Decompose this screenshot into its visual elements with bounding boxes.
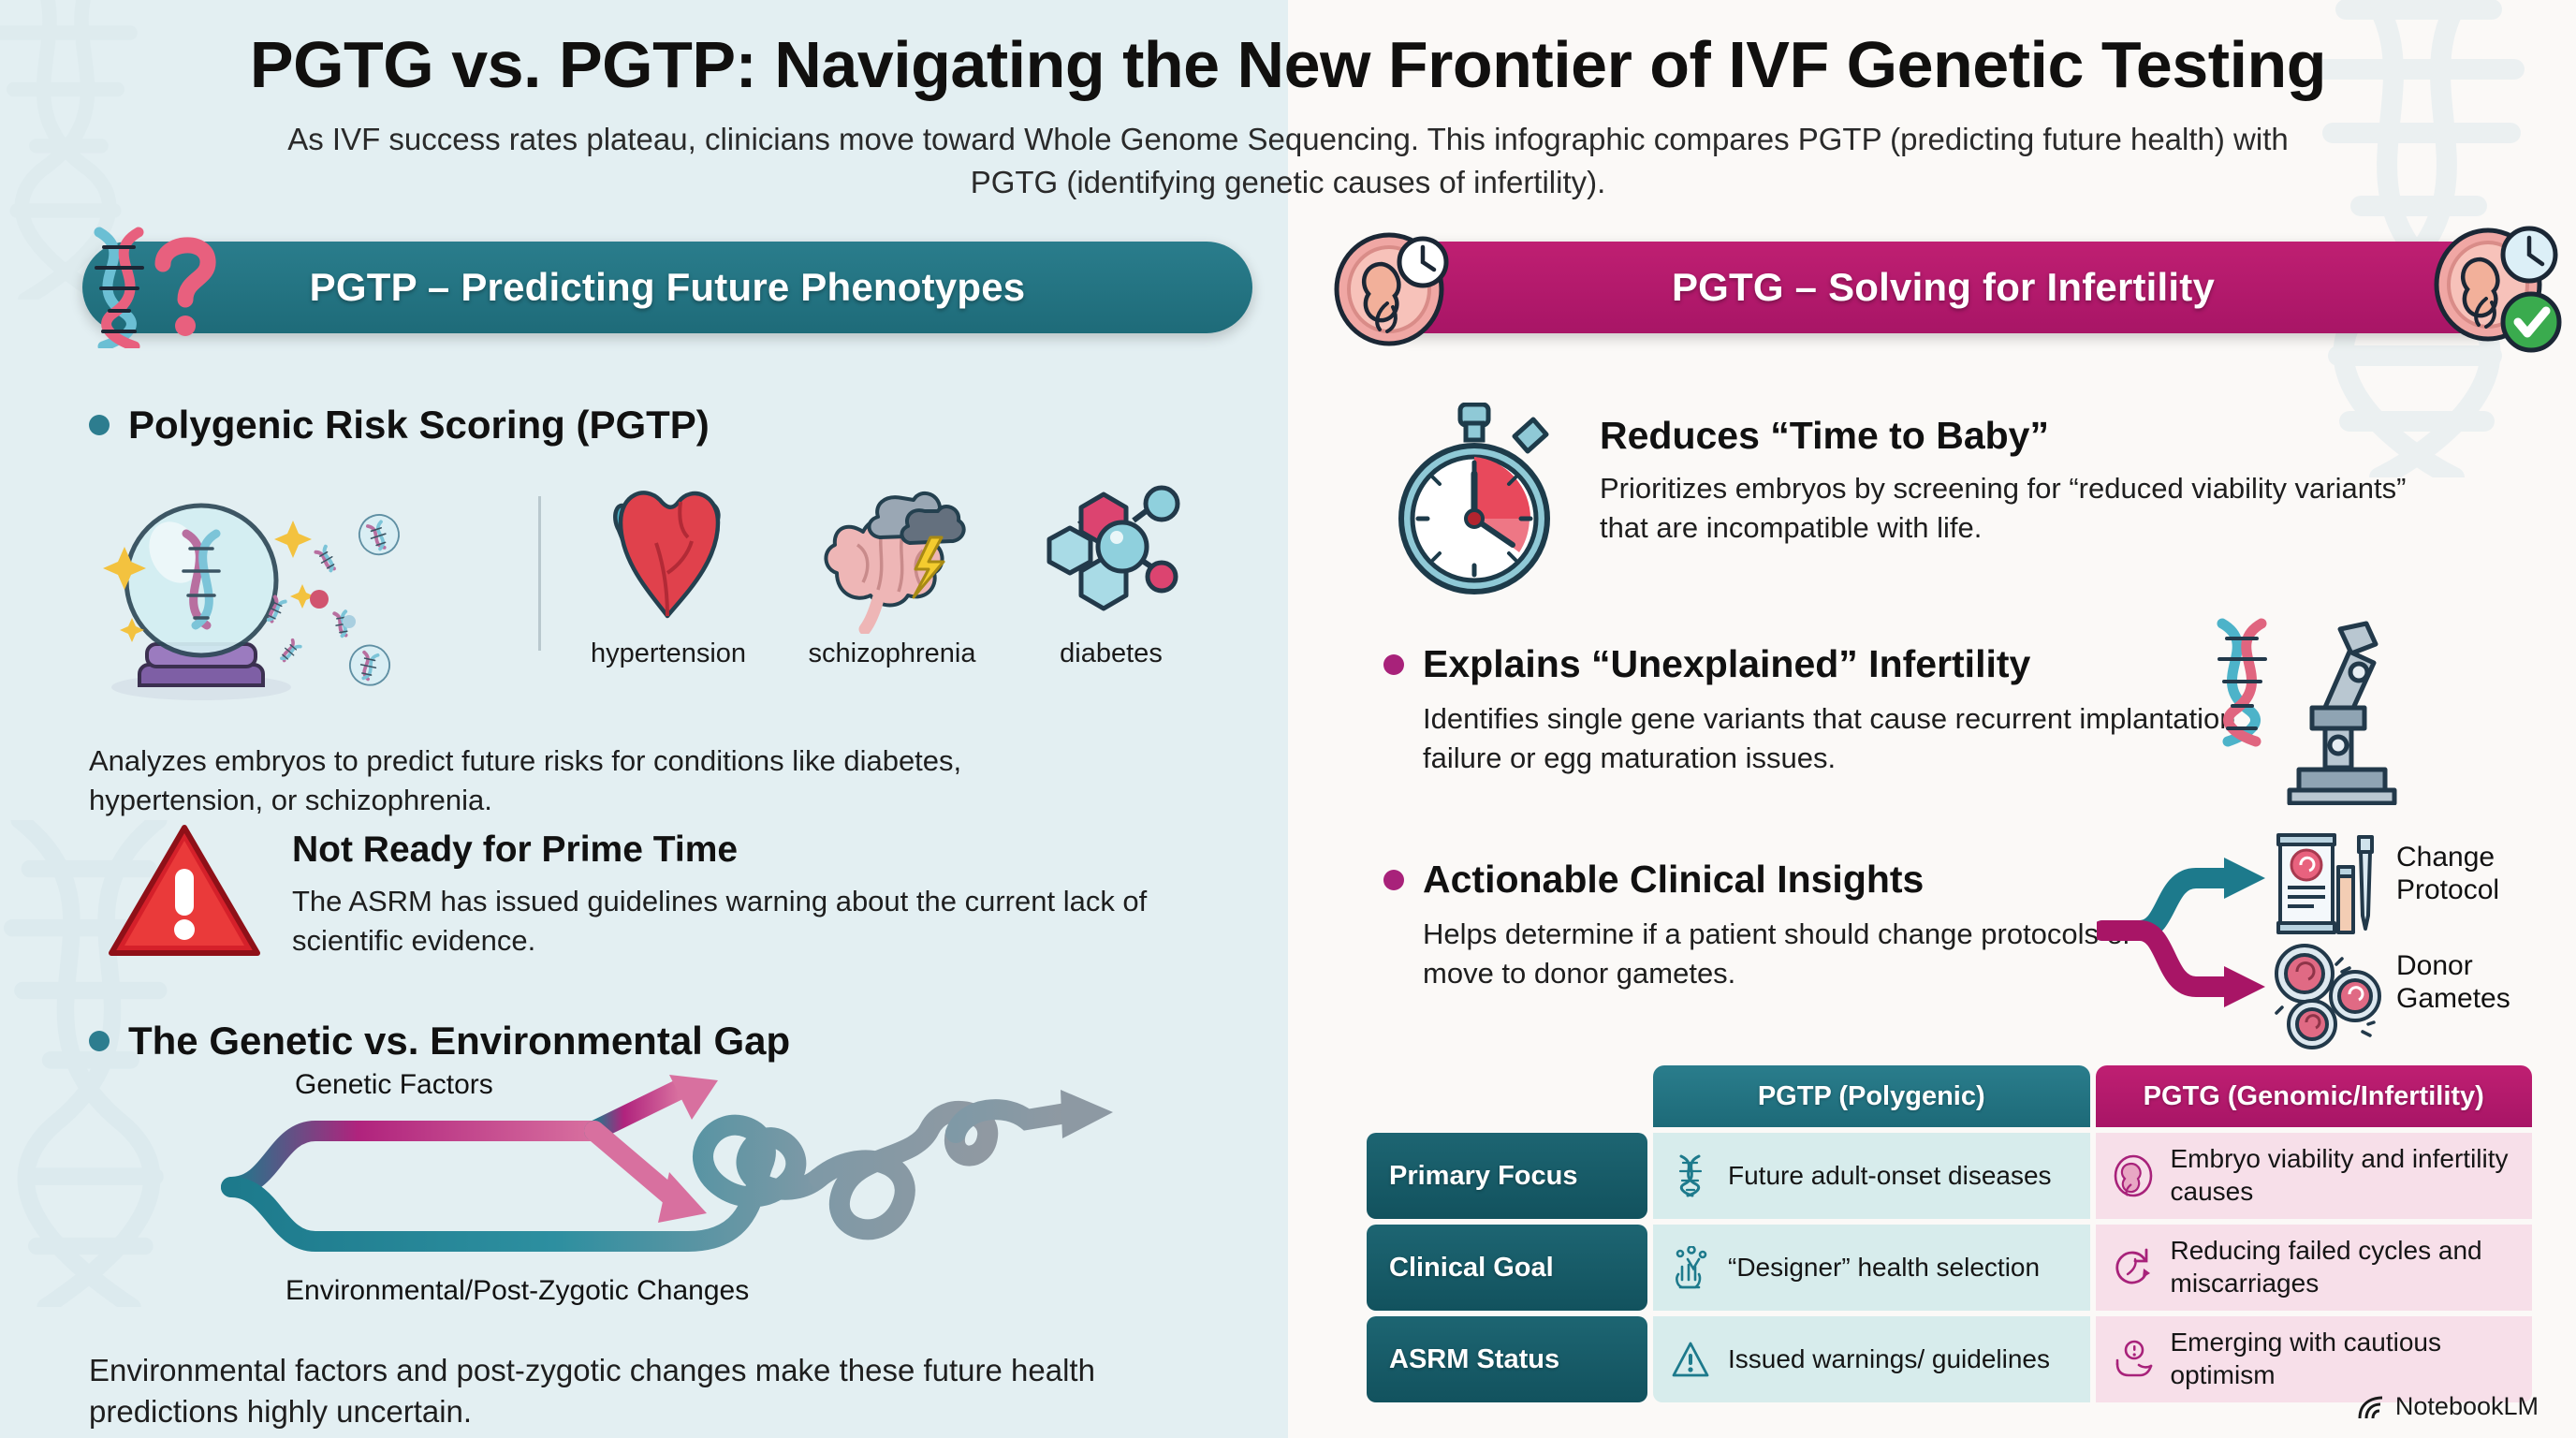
table-row: Primary Focus Future adult-onset disease… (1367, 1133, 2532, 1219)
actionable-description: Helps determine if a patient should chan… (1423, 915, 2134, 992)
table-header-row: PGTP (Polygenic) PGTG (Genomic/Infertili… (1367, 1065, 2532, 1127)
polygenic-risk-section: Polygenic Risk Scoring (PGTP) (89, 403, 1268, 819)
not-ready-heading: Not Ready for Prime Time (292, 829, 1219, 871)
hand-care-icon (2111, 1338, 2156, 1381)
table-corner-spacer (1367, 1065, 1647, 1127)
table-row: Clinical Goal “Designer” health selectio… (1367, 1225, 2532, 1311)
condition-schizophrenia: schizophrenia (794, 479, 990, 669)
embryo-check-icon (2434, 225, 2565, 356)
molecule-icon (1036, 479, 1186, 634)
embryo-clock-icon (1333, 232, 1455, 346)
polygenic-heading: Polygenic Risk Scoring (PGTP) (128, 403, 710, 448)
embryo-icon (2111, 1154, 2156, 1197)
table-cell-pgtg: Embryo viability and infertility causes (2096, 1133, 2533, 1219)
page-header: PGTG vs. PGTP: Navigating the New Fronti… (0, 28, 2576, 203)
microscope-dna-icon (2200, 618, 2434, 805)
gap-description: Environmental factors and post-zygotic c… (89, 1350, 1119, 1432)
table-cell-text: Issued warnings/ guidelines (1728, 1343, 2050, 1376)
table-cell-pgtp: Future adult-onset diseases (1653, 1133, 2090, 1219)
bullet-dot-icon (89, 415, 110, 435)
pgtg-banner: PGTG – Solving for Infertility (1363, 242, 2524, 333)
table-cell-text: Emerging with cautious optimism (2171, 1327, 2518, 1391)
egg-cells-icon (2269, 942, 2386, 1049)
bullet-dot-icon (89, 1031, 110, 1051)
crystal-ball-dna-icon (89, 479, 520, 713)
table-cell-pgtg: Reducing failed cycles and miscarriages (2096, 1225, 2533, 1311)
table-cell-pgtg: Emerging with cautious optimism (2096, 1316, 2533, 1402)
time-to-baby-section: Reduces “Time to Baby” Prioritizes embry… (1383, 403, 2554, 594)
polygenic-description: Analyzes embryos to predict future risks… (89, 741, 1053, 819)
time-to-baby-heading: Reduces “Time to Baby” (1600, 414, 2442, 458)
genetic-environmental-section: The Genetic vs. Environmental Gap (89, 1019, 1278, 1432)
warning-triangle-icon (108, 820, 262, 961)
cycle-arrow-icon (2111, 1246, 2156, 1289)
stopwatch-icon (1383, 403, 1566, 594)
table-cell-text: Embryo viability and infertility causes (2171, 1143, 2518, 1208)
protocol-document-icon (2273, 829, 2380, 942)
notebooklm-watermark: NotebookLM (2356, 1392, 2539, 1421)
heart-icon (598, 479, 739, 634)
table-row-label: ASRM Status (1367, 1316, 1647, 1402)
page-subtitle: As IVF success rates plateau, clinicians… (258, 118, 2318, 203)
brain-storm-icon (812, 479, 972, 634)
section-divider (538, 496, 541, 651)
dna-question-icon (66, 227, 253, 348)
hand-select-icon (1668, 1246, 1713, 1289)
bullet-dot-icon (1383, 654, 1404, 675)
unexplained-heading: Explains “Unexplained” Infertility (1423, 642, 2030, 686)
condition-label: diabetes (1022, 638, 1200, 669)
comparison-table: PGTP (Polygenic) PGTG (Genomic/Infertili… (1367, 1065, 2532, 1408)
table-cell-text: Future adult-onset diseases (1728, 1160, 2052, 1193)
notebooklm-icon (2356, 1394, 2386, 1420)
table-row-label: Clinical Goal (1367, 1225, 1647, 1311)
pgtg-banner-label: PGTG – Solving for Infertility (1672, 265, 2215, 310)
condition-hypertension: hypertension (575, 479, 762, 669)
pgtp-banner-label: PGTP – Predicting Future Phenotypes (310, 265, 1026, 310)
table-cell-text: Reducing failed cycles and miscarriages (2171, 1235, 2518, 1299)
table-cell-text: “Designer” health selection (1728, 1252, 2040, 1284)
branching-arrows-diagram (2097, 833, 2275, 1039)
table-header-pgtg: PGTG (Genomic/Infertility) (2096, 1065, 2533, 1127)
table-row-label: Primary Focus (1367, 1133, 1647, 1219)
bullet-dot-icon (1383, 870, 1404, 890)
not-ready-description: The ASRM has issued guidelines warning a… (292, 882, 1219, 960)
condition-label: hypertension (575, 638, 762, 669)
actionable-heading: Actionable Clinical Insights (1423, 858, 1924, 902)
time-to-baby-description: Prioritizes embryos by screening for “re… (1600, 469, 2442, 547)
dna-icon (1668, 1153, 1713, 1198)
table-header-pgtp: PGTP (Polygenic) (1653, 1065, 2090, 1127)
donor-gametes-label: Donor Gametes (2396, 949, 2574, 1016)
table-row: ASRM Status Issued warnings/ guidelines (1367, 1316, 2532, 1402)
notebooklm-label: NotebookLM (2395, 1392, 2539, 1421)
change-protocol-label: Change Protocol (2396, 841, 2574, 907)
gap-heading: The Genetic vs. Environmental Gap (128, 1019, 790, 1064)
gap-heading-row: The Genetic vs. Environmental Gap (89, 1019, 1278, 1064)
page-title: PGTG vs. PGTP: Navigating the New Fronti… (0, 28, 2576, 101)
condition-label: schizophrenia (794, 638, 990, 669)
polygenic-heading-row: Polygenic Risk Scoring (PGTP) (89, 403, 1268, 448)
condition-diabetes: diabetes (1022, 479, 1200, 669)
environmental-changes-label: Environmental/Post-Zygotic Changes (285, 1275, 749, 1307)
not-ready-section: Not Ready for Prime Time The ASRM has is… (108, 820, 1278, 961)
unexplained-description: Identifies single gene variants that cau… (1423, 699, 2265, 777)
genetic-factors-label: Genetic Factors (295, 1069, 493, 1101)
pgtp-banner: PGTP – Predicting Future Phenotypes (82, 242, 1252, 333)
table-cell-pgtp: “Designer” health selection (1653, 1225, 2090, 1311)
warning-icon (1668, 1340, 1713, 1379)
table-cell-pgtp: Issued warnings/ guidelines (1653, 1316, 2090, 1402)
infographic-page: PGTG vs. PGTP: Navigating the New Fronti… (0, 0, 2576, 1438)
